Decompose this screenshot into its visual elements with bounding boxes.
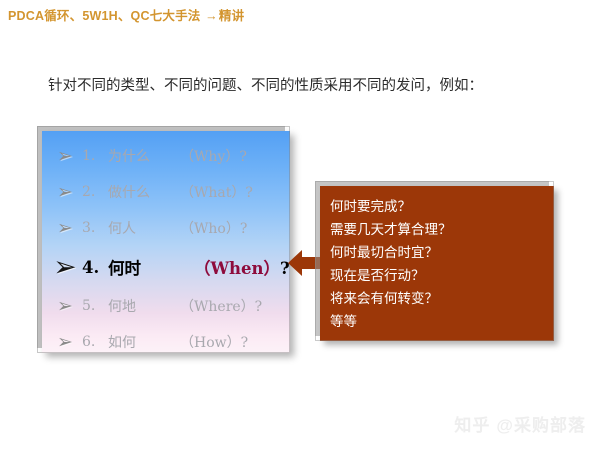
- question-number: 6.: [82, 334, 108, 350]
- question-label-en: （Where）?: [180, 296, 262, 316]
- question-label-en-main: （When）: [194, 259, 280, 278]
- question-label-en: （Why）?: [180, 146, 247, 166]
- arrow-bullet-icon: ➢: [48, 333, 82, 352]
- slide-header-text-before: PDCA循环、5W1H、QC七大手法: [8, 9, 204, 23]
- question-label-cn: 何地: [108, 296, 180, 316]
- arrow-bullet-icon: ➢: [48, 219, 82, 238]
- question-number: 5.: [82, 298, 108, 314]
- arrow-bullet-icon: ➢: [48, 183, 82, 202]
- question-row-1: ➢ 1. 为什么 （Why）?: [42, 138, 290, 174]
- answer-line: 需要几天才算合理？: [330, 219, 554, 242]
- answer-line: 现在是否行动？: [330, 265, 554, 288]
- question-row-6: ➢ 6. 如何 （How）?: [42, 324, 290, 360]
- answer-line: 何时要完成？: [330, 196, 554, 219]
- question-number: 3.: [82, 220, 108, 236]
- question-row-4-highlighted: ➢ 4. 何时 （When）?: [42, 246, 290, 288]
- question-label-cn: 如何: [108, 332, 180, 352]
- watermark-account: @采购部落: [496, 411, 586, 436]
- question-label-en: （How）?: [180, 332, 248, 352]
- question-label-cn: 何人: [108, 218, 180, 238]
- slide-subtitle: 针对不同的类型、不同的问题、不同的性质采用不同的发问，例如：: [48, 74, 483, 95]
- question-label-en: （What）?: [180, 182, 253, 202]
- watermark-site: 知乎: [454, 411, 490, 436]
- question-label-cn: 为什么: [108, 146, 180, 166]
- arrow-bullet-icon-active: ➢: [48, 253, 82, 281]
- question-number: 4.: [82, 258, 108, 277]
- right-arrow-icon: →: [204, 9, 219, 23]
- left-arrow-connector-icon: [287, 245, 323, 281]
- arrow-bullet-icon: ➢: [48, 297, 82, 316]
- arrow-bullet-icon: ➢: [48, 147, 82, 166]
- answer-line: 等等: [330, 311, 554, 334]
- question-row-5: ➢ 5. 何地 （Where）?: [42, 288, 290, 324]
- question-label-en: （When）?: [194, 255, 290, 279]
- answer-line: 将来会有何转变？: [330, 288, 554, 311]
- question-number: 1.: [82, 148, 108, 164]
- slide-header-text-after: 精讲: [219, 9, 244, 23]
- watermark: 知乎 @采购部落: [454, 411, 586, 436]
- question-label-en: （Who）?: [180, 218, 247, 238]
- question-number: 2.: [82, 184, 108, 200]
- slide-header: PDCA循环、5W1H、QC七大手法 →精讲: [8, 5, 244, 24]
- question-list-panel: ➢ 1. 为什么 （Why）? ➢ 2. 做什么 （What）? ➢ 3. 何人…: [42, 131, 290, 353]
- question-label-cn: 做什么: [108, 182, 180, 202]
- answer-detail-panel: 何时要完成？ 需要几天才算合理？ 何时最切合时宜？ 现在是否行动？ 将来会有何转…: [320, 186, 554, 341]
- question-label-cn: 何时: [108, 255, 194, 279]
- question-row-2: ➢ 2. 做什么 （What）?: [42, 174, 290, 210]
- answer-line: 何时最切合时宜？: [330, 242, 554, 265]
- question-row-3: ➢ 3. 何人 （Who）?: [42, 210, 290, 246]
